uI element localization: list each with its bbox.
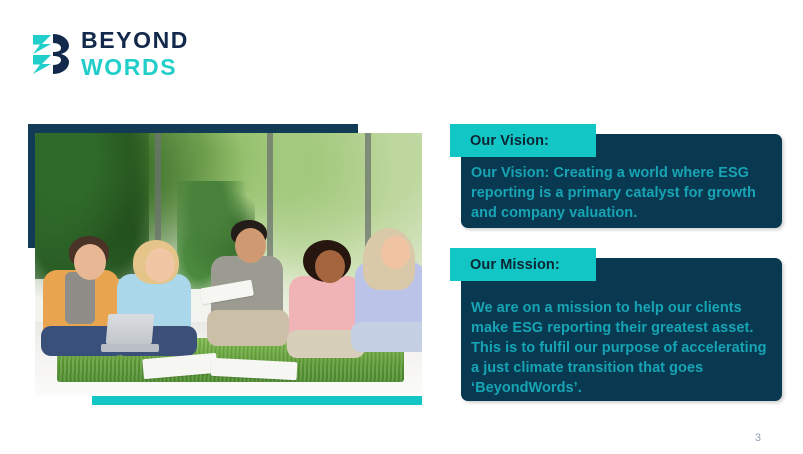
vision-heading-label: Our Vision: — [450, 133, 549, 149]
logo-line-beyond: BEYOND — [81, 29, 189, 52]
photo-block — [28, 124, 422, 405]
mission-panel-text: We are on a mission to help our clients … — [471, 298, 771, 398]
mission-heading-label: Our Mission: — [450, 257, 560, 273]
logo-wordmark: BEYOND WORDS — [81, 29, 189, 79]
team-collaboration-photo — [35, 133, 422, 396]
page-number: 3 — [755, 432, 761, 444]
beyond-words-b-mark-icon — [31, 31, 71, 77]
mission-panel-heading: Our Mission: — [450, 248, 596, 281]
laptop — [101, 318, 157, 352]
vision-panel-text: Our Vision: Creating a world where ESG r… — [471, 163, 763, 223]
vision-panel: Our Vision: Creating a world where ESG r… — [450, 124, 782, 228]
person-5 — [351, 206, 422, 364]
brand-logo: BEYOND WORDS — [31, 29, 189, 79]
vision-panel-heading: Our Vision: — [450, 124, 596, 157]
mission-panel: We are on a mission to help our clients … — [450, 248, 782, 401]
logo-line-words: WORDS — [81, 56, 189, 79]
